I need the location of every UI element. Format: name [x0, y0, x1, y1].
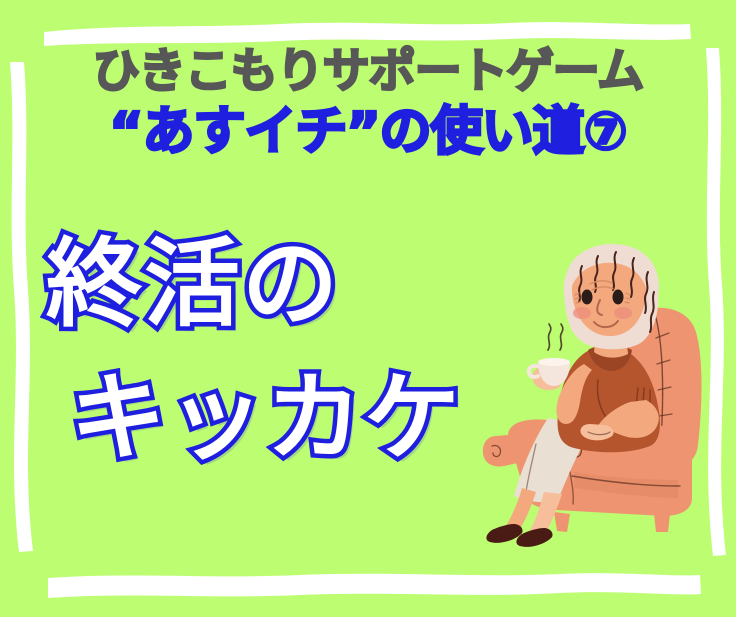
cheek-right: [614, 307, 632, 319]
series-subtitle: ひきこもりサポートゲーム: [0, 48, 736, 95]
frame-stroke-bottom: [48, 573, 701, 598]
brand-title: “あすイチ”の使い道⑦: [0, 106, 736, 158]
headline-block: 終活の キッカケ: [46, 236, 566, 466]
headline-line-2: キッカケ: [70, 370, 566, 466]
headline-line-1: 終活の: [46, 236, 566, 332]
eye-right: [613, 290, 624, 305]
eye-left: [582, 290, 593, 305]
chair-leg-right: [654, 514, 670, 532]
thumbnail-canvas: ひきこもりサポートゲーム “あすイチ”の使い道⑦ 終活の キッカケ: [0, 0, 736, 617]
legs-and-shoes: [486, 488, 562, 547]
cheek-left: [573, 307, 591, 319]
chair-leg-left: [554, 512, 570, 532]
frame-stroke-top: [44, 22, 691, 46]
header-text-block: ひきこもりサポートゲーム “あすイチ”の使い道⑦: [0, 48, 736, 158]
